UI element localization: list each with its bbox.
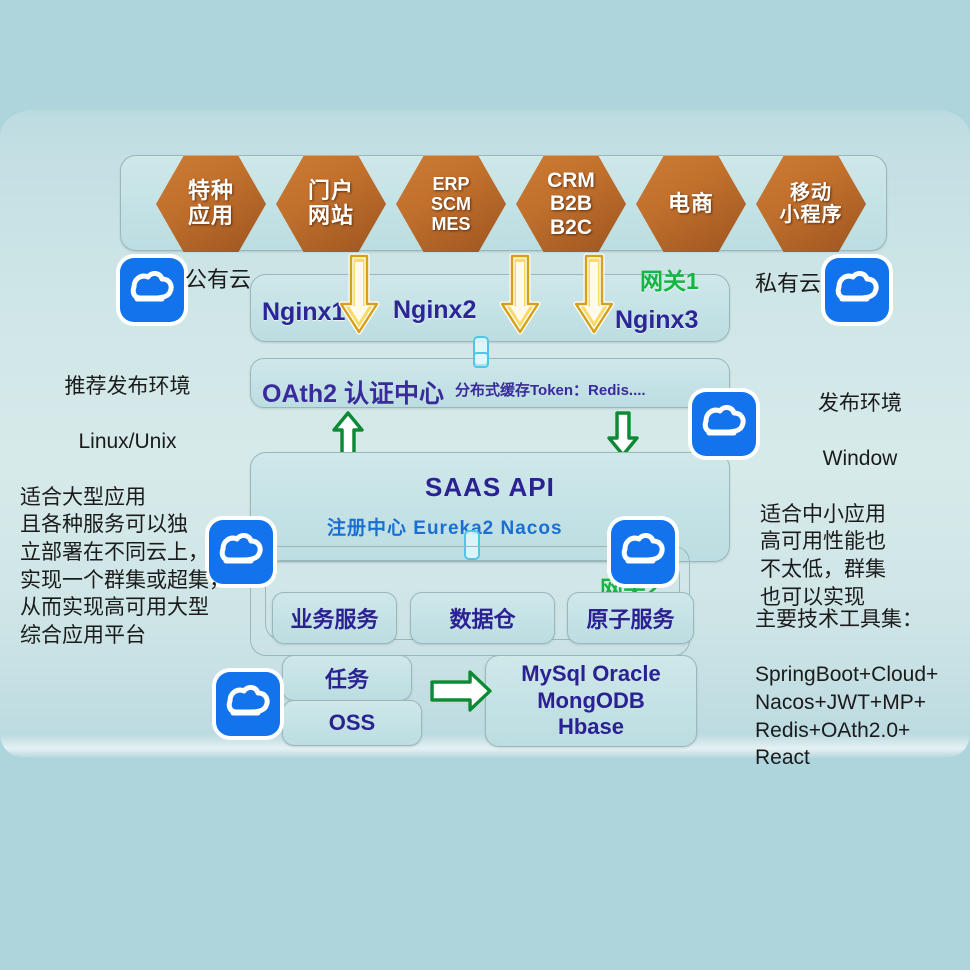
gateway1-label: 网关1 [640, 262, 699, 296]
connector-pill [473, 352, 489, 368]
left-note-body: 适合大型应用 且各种服务可以独 立部署在不同云上， 实现一个群集或超集， 从而实… [20, 486, 230, 648]
hex-line: 电商 [668, 192, 714, 217]
cloud-icon[interactable] [692, 392, 756, 456]
service-box-business[interactable]: 业务服务 [272, 592, 397, 644]
nginx1-label: Nginx1 [262, 298, 345, 327]
right-note-heading: 发布环境 [760, 390, 960, 418]
public-cloud-label: 公有云 [185, 262, 251, 294]
database-box[interactable]: MySql Oracle MongODB Hbase [485, 655, 697, 747]
oauth-subtitle: 分布式缓存Token：Redis.... [455, 379, 646, 400]
service-registry-label: 注册中心 Eureka2 Nacos [327, 513, 563, 540]
app-hexagon-6[interactable]: 移动 小程序 [756, 156, 866, 252]
arrow-down-yellow-icon [572, 252, 616, 338]
cloud-icon[interactable] [120, 258, 184, 322]
service-box-atomic[interactable]: 原子服务 [567, 592, 694, 644]
arrow-down-yellow-icon [498, 252, 542, 338]
left-note-heading: 推荐发布环境 [20, 373, 235, 401]
saas-title: SAAS API [425, 472, 555, 503]
db-line: MySql Oracle [521, 661, 660, 688]
service-box-oss[interactable]: OSS [282, 700, 422, 746]
hex-line: MES [431, 214, 470, 234]
hex-line: 特种 [188, 179, 234, 204]
tools-note: 主要技术工具集： SpringBoot+Cloud+ Nacos+JWT+MP+… [755, 578, 970, 772]
hex-line: 网站 [308, 204, 354, 229]
private-cloud-label: 私有云 [755, 266, 821, 298]
service-box-warehouse[interactable]: 数据仓 [410, 592, 555, 644]
hex-line: SCM [431, 194, 471, 214]
app-hexagon-3[interactable]: ERP SCM MES [396, 156, 506, 252]
diagram-canvas: 特种 应用 门户 网站 ERP SCM MES CRM B2B B2C 电商 移… [0, 0, 970, 970]
db-line: MongODB [537, 688, 645, 715]
nginx3-label: Nginx3 [615, 306, 698, 335]
arrow-down-green-icon [606, 410, 640, 458]
nginx2-label: Nginx2 [393, 296, 476, 325]
arrow-up-green-icon [331, 410, 365, 458]
service-box-task[interactable]: 任务 [282, 655, 412, 701]
app-hexagon-4[interactable]: CRM B2B B2C [516, 156, 626, 252]
app-hexagon-2[interactable]: 门户 网站 [276, 156, 386, 252]
cloud-icon[interactable] [216, 672, 280, 736]
oauth-title: OAth2 认证中心 [262, 374, 444, 410]
right-note: 发布环境 Window 适合中小应用 高可用性能也 不太低，群集 也可以实现 [760, 362, 960, 611]
hex-line: ERP [432, 174, 469, 194]
hex-line: 应用 [188, 204, 234, 229]
hex-line: B2C [550, 216, 592, 240]
cloud-icon[interactable] [611, 520, 675, 584]
db-line: Hbase [558, 714, 624, 741]
tools-note-heading: 主要技术工具集： [755, 606, 970, 634]
hex-line: 门户 [308, 179, 354, 204]
arrow-right-green-icon [428, 668, 494, 714]
hex-line: 小程序 [780, 204, 843, 226]
arrow-down-yellow-icon [337, 252, 381, 338]
hex-line: 移动 [790, 182, 832, 204]
cloud-icon[interactable] [825, 258, 889, 322]
hex-line: B2B [550, 192, 592, 216]
tools-note-body: SpringBoot+Cloud+ Nacos+JWT+MP+ Redis+OA… [755, 663, 938, 769]
app-hexagon-1[interactable]: 特种 应用 [156, 156, 266, 252]
hex-line: CRM [547, 169, 595, 193]
right-note-env: Window [760, 445, 960, 473]
left-note: 推荐发布环境 Linux/Unix 适合大型应用 且各种服务可以独 立部署在不同… [20, 345, 235, 650]
app-hexagon-5[interactable]: 电商 [636, 156, 746, 252]
application-layer-panel: 特种 应用 门户 网站 ERP SCM MES CRM B2B B2C 电商 移… [120, 155, 887, 251]
left-note-env: Linux/Unix [20, 428, 235, 456]
